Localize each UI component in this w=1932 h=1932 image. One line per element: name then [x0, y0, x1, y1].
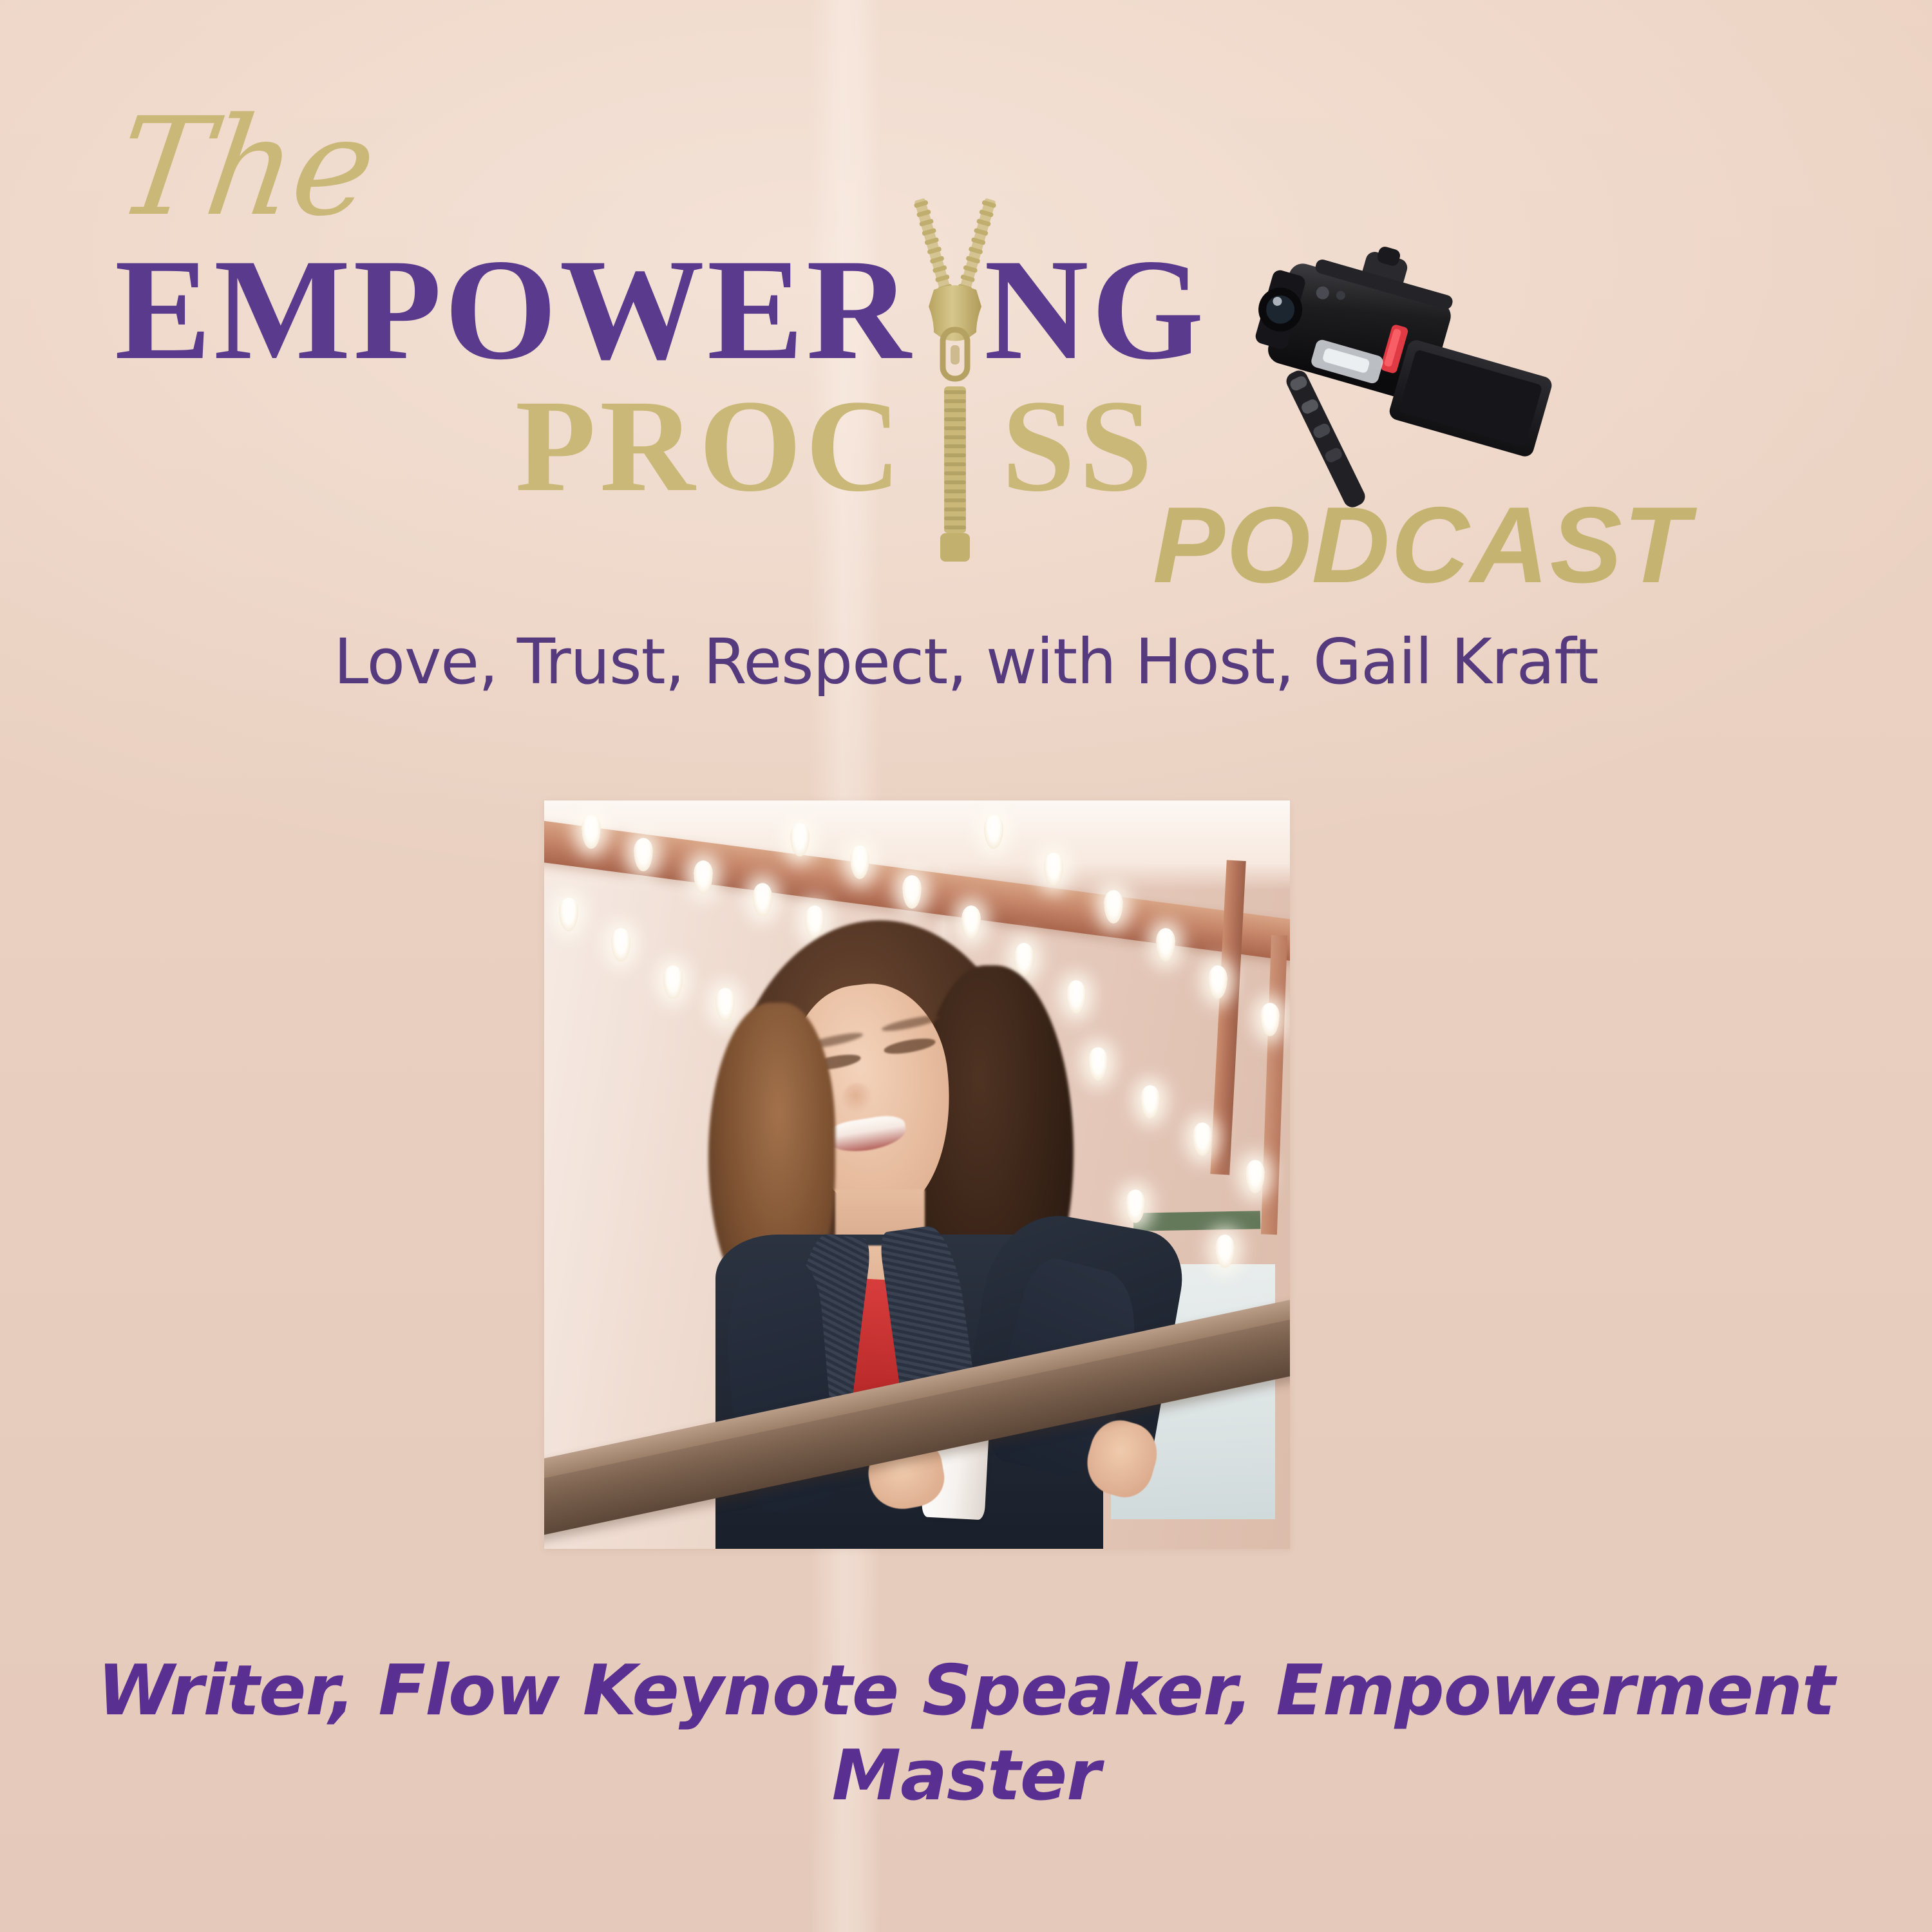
logo-word-empowering: EMPOWERING [115, 237, 1207, 382]
podcast-cover-art: The EMPOWERING PROCESS PODCAST [0, 0, 1932, 1932]
podcast-logo: The EMPOWERING PROCESS PODCAST [0, 0, 1932, 618]
logo-process-part2: SS [1002, 373, 1157, 519]
logo-empowering-part2: NG [984, 229, 1207, 390]
logo-process-zipper-slot: E [905, 373, 1002, 519]
logo-empowering-part1: EMPOWER [115, 229, 913, 390]
logo-word-the: The [109, 100, 382, 235]
logo-empowering-zipper-slot: I [913, 229, 984, 390]
host-credentials-line1: Writer, Flow Keynote Speaker, Empowermen… [97, 1649, 1835, 1734]
podcast-tagline: Love, Trust, Respect, with Host, Gail Kr… [0, 628, 1932, 697]
host-credentials-line2: Master [97, 1734, 1835, 1819]
host-credentials: Writer, Flow Keynote Speaker, Empowermen… [97, 1649, 1835, 1819]
logo-word-podcast: PODCAST [1153, 491, 1690, 599]
host-photo [544, 800, 1290, 1549]
logo-word-process: PROCESS [515, 380, 1157, 512]
photo-person [544, 800, 1290, 1549]
logo-process-part1: PROC [515, 373, 905, 519]
photo-nose [842, 1083, 872, 1113]
